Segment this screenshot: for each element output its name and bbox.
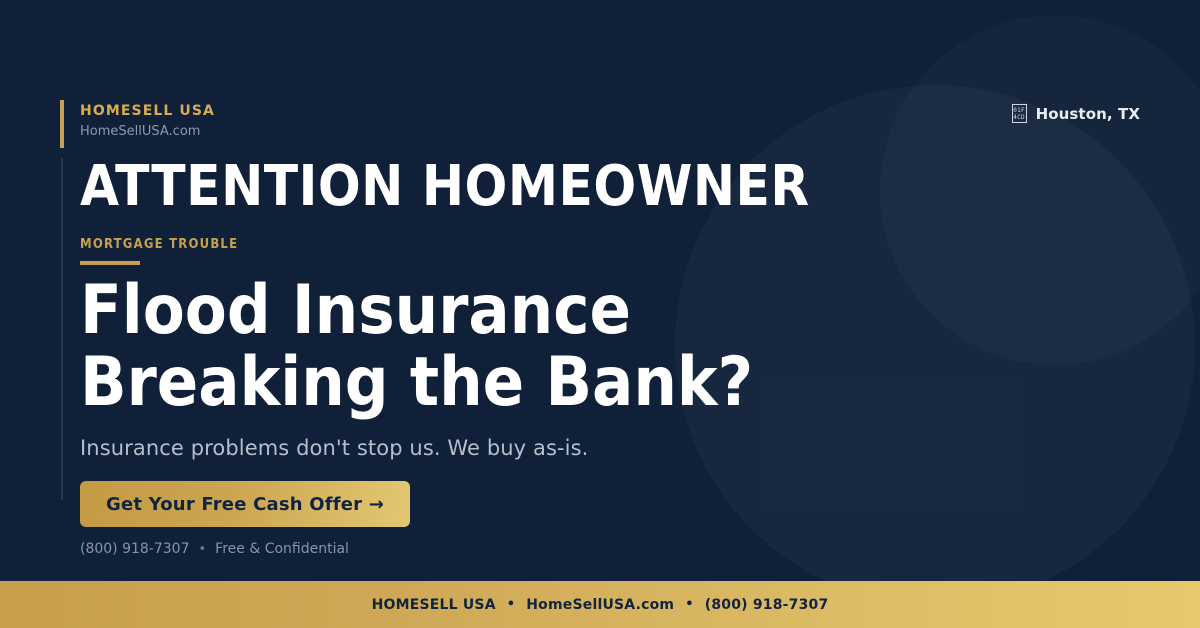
main-headline: Flood Insurance Breaking the Bank? — [80, 275, 840, 419]
location-badge: 01F 4CD Houston, TX — [1012, 104, 1140, 123]
brand-url: HomeSellUSA.com — [80, 125, 215, 139]
eyebrow-underline — [80, 261, 140, 265]
footer-separator-1: • — [507, 597, 516, 612]
contact-line: (800) 918-7307 • Free & Confidential — [80, 541, 349, 557]
footer-brand: HOMESELL USA — [372, 597, 496, 613]
contact-phone[interactable]: (800) 918-7307 — [80, 541, 190, 557]
subheadline: Insurance problems don't stop us. We buy… — [80, 436, 588, 460]
contact-note: Free & Confidential — [215, 541, 349, 557]
footer-phone[interactable]: (800) 918-7307 — [705, 597, 829, 613]
map-pin-icon-codepoint-low: 4CD — [1013, 114, 1025, 121]
eyebrow-label: MORTGAGE TROUBLE — [80, 237, 238, 252]
ad-content: HOMESELL USA HomeSellUSA.com 01F 4CD Hou… — [0, 0, 1200, 581]
cta-get-free-cash-offer-button[interactable]: Get Your Free Cash Offer → — [80, 481, 410, 527]
contact-separator-dot: • — [199, 542, 207, 557]
brand-name: HOMESELL USA — [80, 104, 215, 119]
map-pin-icon-codepoint-high: 01F — [1013, 107, 1025, 114]
brand-block: HOMESELL USA HomeSellUSA.com — [80, 104, 215, 140]
footer-separator-2: • — [685, 597, 694, 612]
main-headline-line-1: Flood Insurance — [80, 275, 840, 347]
main-headline-line-2: Breaking the Bank? — [80, 347, 840, 419]
attention-headline: ATTENTION HOMEOWNER — [80, 158, 810, 217]
gold-accent-bar — [60, 100, 64, 148]
location-text: Houston, TX — [1036, 105, 1140, 123]
map-pin-icon: 01F 4CD — [1012, 104, 1027, 123]
footer-bar: HOMESELL USA • HomeSellUSA.com • (800) 9… — [0, 581, 1200, 628]
ad-canvas: HOMESELL USA HomeSellUSA.com 01F 4CD Hou… — [0, 0, 1200, 628]
vertical-rail-line — [61, 158, 63, 500]
footer-website[interactable]: HomeSellUSA.com — [526, 597, 674, 613]
